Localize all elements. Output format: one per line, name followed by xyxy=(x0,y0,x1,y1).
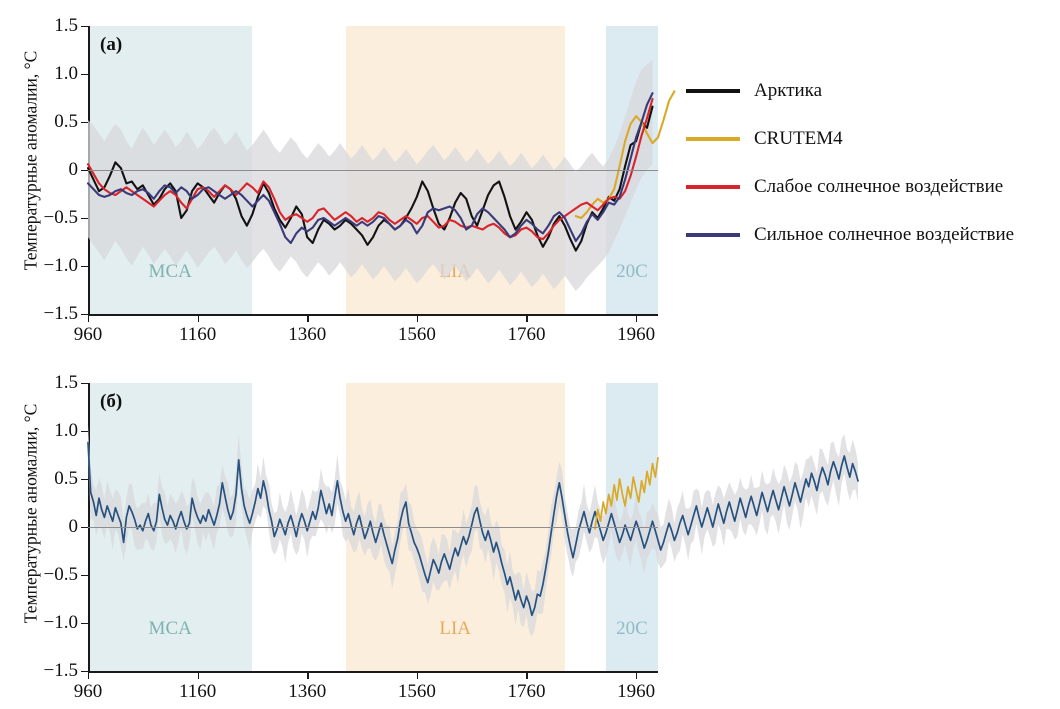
x-tick-label: 1160 xyxy=(179,681,216,703)
panel-b: Температурные аномалии, °C (б) MCALIA20C… xyxy=(0,355,1060,709)
y-tick-label: −1.5 xyxy=(44,660,78,682)
x-tick-label: 1160 xyxy=(179,324,216,346)
x-axis-line-b xyxy=(88,671,658,673)
x-tick xyxy=(526,671,527,679)
y-tick-label: 0.5 xyxy=(54,468,78,490)
y-tick xyxy=(81,479,88,480)
y-tick xyxy=(81,575,88,576)
y-tick-label: 0.5 xyxy=(54,111,78,133)
arctic-uncertainty xyxy=(88,60,653,291)
legend-item-weak-solar[interactable]: Слабое солнечное воздействие xyxy=(686,176,1014,198)
x-tick-label: 1560 xyxy=(398,681,436,703)
y-tick xyxy=(81,527,88,528)
y-tick xyxy=(81,623,88,624)
reconstruction-uncertainty xyxy=(88,425,858,637)
y-tick xyxy=(81,383,88,384)
y-tick xyxy=(81,431,88,432)
y-tick-label: 1.5 xyxy=(54,15,78,37)
legend-label-arctic: Арктика xyxy=(754,80,822,102)
plot-area-b: (б) MCALIA20C1.51.00.50−0.5−1.0−1.596011… xyxy=(88,383,658,671)
x-tick-label: 1760 xyxy=(507,324,545,346)
legend-swatch-strong-solar xyxy=(686,233,740,236)
y-tick xyxy=(81,671,88,672)
y-tick-label: −1.5 xyxy=(44,303,78,325)
y-tick-label: 1.5 xyxy=(54,372,78,394)
legend-item-strong-solar[interactable]: Сильное солнечное воздействие xyxy=(686,224,1014,246)
y-tick-label: 1.0 xyxy=(54,420,78,442)
plot-area-a: (a) MCALIA20C1.51.00.50−0.5−1.0−1.596011… xyxy=(88,26,658,314)
x-tick xyxy=(636,314,637,322)
y-tick-label: −1.0 xyxy=(44,255,78,277)
y-tick xyxy=(81,218,88,219)
x-axis-line-a xyxy=(88,314,658,316)
x-tick xyxy=(88,671,89,679)
y-tick-label: −0.5 xyxy=(44,564,78,586)
legend-swatch-crutem4 xyxy=(686,137,740,140)
y-tick xyxy=(81,26,88,27)
legend-a: АрктикаCRUTEM4Слабое солнечное воздейств… xyxy=(686,80,1014,272)
zero-line-a xyxy=(88,170,658,171)
y-tick xyxy=(81,122,88,123)
x-tick-label: 1360 xyxy=(288,681,326,703)
x-tick xyxy=(307,671,308,679)
legend-swatch-weak-solar xyxy=(686,185,740,188)
x-tick-label: 1960 xyxy=(617,324,655,346)
y-tick xyxy=(81,74,88,75)
y-tick xyxy=(81,314,88,315)
legend-label-crutem4: CRUTEM4 xyxy=(754,128,843,150)
y-tick xyxy=(81,170,88,171)
y-tick-label: 0 xyxy=(69,159,79,181)
x-tick-label: 1360 xyxy=(288,324,326,346)
x-tick xyxy=(198,314,199,322)
legend-item-crutem4[interactable]: CRUTEM4 xyxy=(686,128,1014,150)
y-tick-label: −1.0 xyxy=(44,612,78,634)
y-axis-title-a: Температурные аномалии, °C xyxy=(21,26,42,296)
legend-label-weak-solar: Слабое солнечное воздействие xyxy=(754,176,1003,198)
legend-item-arctic[interactable]: Арктика xyxy=(686,80,1014,102)
legend-swatch-arctic xyxy=(686,89,740,92)
x-tick-label: 960 xyxy=(74,324,103,346)
y-tick-label: 0 xyxy=(69,516,79,538)
y-tick xyxy=(81,266,88,267)
legend-label-strong-solar: Сильное солнечное воздействие xyxy=(754,224,1014,246)
x-tick xyxy=(417,671,418,679)
x-tick-label: 1560 xyxy=(398,324,436,346)
y-tick-label: −0.5 xyxy=(44,207,78,229)
y-axis-title-b: Температурные аномалии, °C xyxy=(21,379,42,649)
zero-line-b xyxy=(88,527,658,528)
y-tick-label: 1.0 xyxy=(54,63,78,85)
panel-a: Температурные аномалии, °C (a) MCALIA20C… xyxy=(0,0,1060,355)
x-tick xyxy=(88,314,89,322)
x-tick xyxy=(526,314,527,322)
x-tick-label: 1760 xyxy=(507,681,545,703)
x-tick xyxy=(198,671,199,679)
x-tick-label: 960 xyxy=(74,681,103,703)
x-tick-label: 1960 xyxy=(617,681,655,703)
x-tick xyxy=(307,314,308,322)
x-tick xyxy=(417,314,418,322)
x-tick xyxy=(636,671,637,679)
